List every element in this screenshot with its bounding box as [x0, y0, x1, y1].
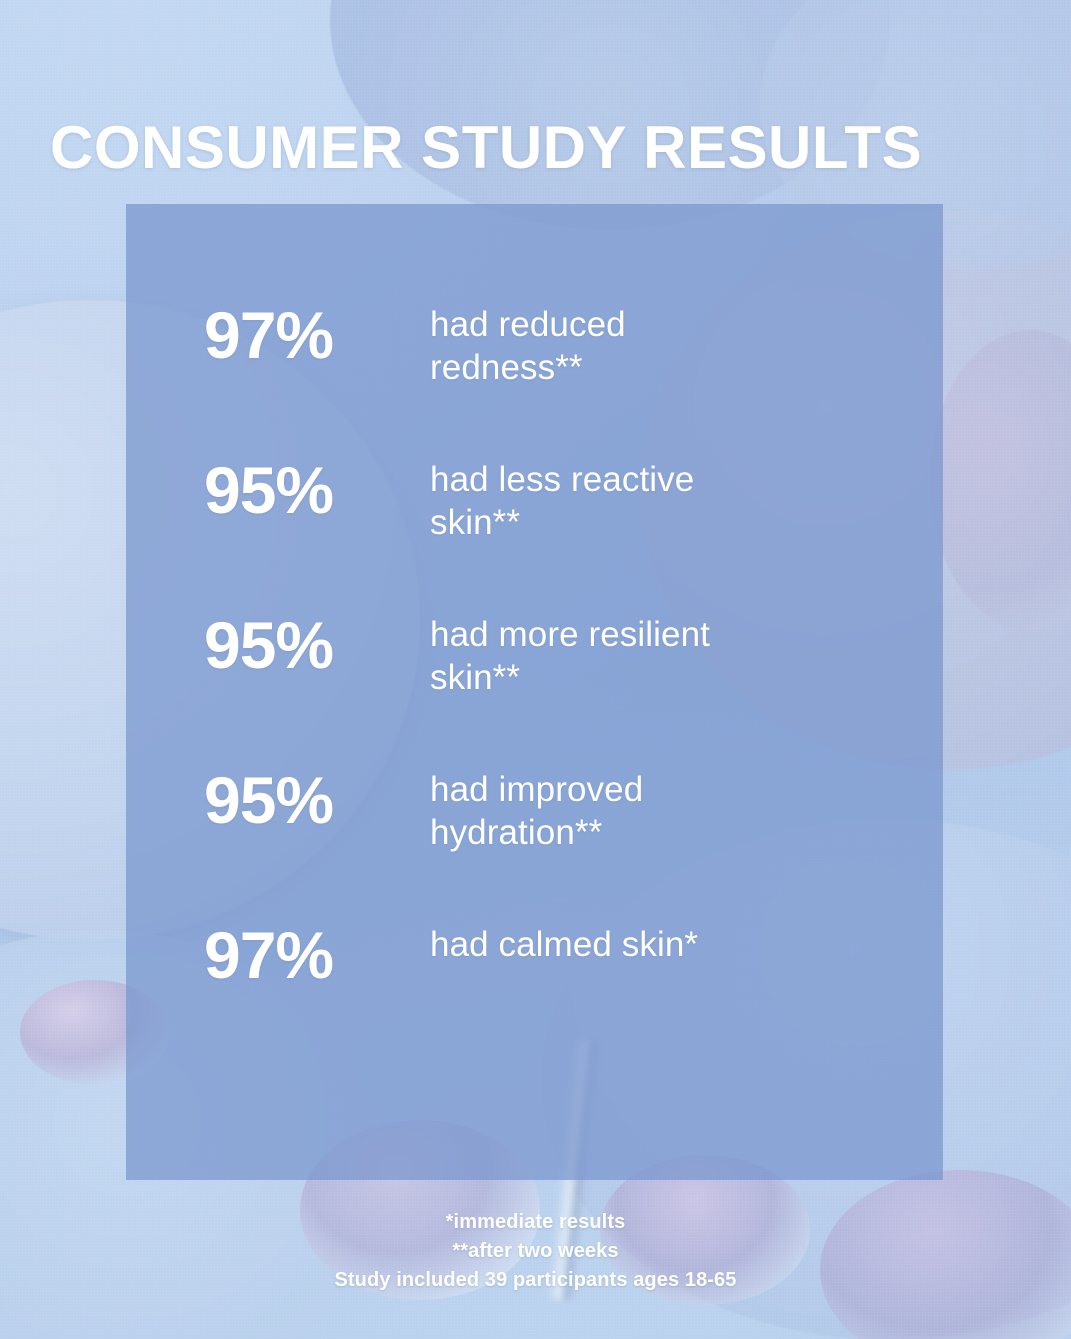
page-title: CONSUMER STUDY RESULTS [50, 116, 1030, 179]
stat-row: 95% had more resilient skin** [126, 612, 943, 767]
stat-label: had less reactive skin** [430, 457, 770, 544]
stat-row: 95% had improved hydration** [126, 767, 943, 922]
stat-label: had reduced redness** [430, 302, 770, 389]
stat-value: 95% [204, 457, 430, 524]
footnote-immediate-results: *immediate results [0, 1208, 1071, 1237]
stat-value: 97% [204, 302, 430, 369]
stats-list: 97% had reduced redness** 95% had less r… [126, 302, 943, 1077]
stat-value: 97% [204, 922, 430, 989]
stat-label: had calmed skin* [430, 922, 698, 967]
stats-panel: 97% had reduced redness** 95% had less r… [126, 204, 943, 1180]
stat-label: had more resilient skin** [430, 612, 770, 699]
stat-label: had improved hydration** [430, 767, 770, 854]
stat-row: 95% had less reactive skin** [126, 457, 943, 612]
stat-value: 95% [204, 767, 430, 834]
footnote-after-two-weeks: **after two weeks [0, 1237, 1071, 1266]
footnote-study-participants: Study included 39 participants ages 18-6… [0, 1266, 1071, 1295]
consumer-study-results-poster: CONSUMER STUDY RESULTS 97% had reduced r… [0, 0, 1071, 1339]
footnotes: *immediate results **after two weeks Stu… [0, 1208, 1071, 1295]
stat-row: 97% had calmed skin* [126, 922, 943, 1077]
stat-row: 97% had reduced redness** [126, 302, 943, 457]
stat-value: 95% [204, 612, 430, 679]
